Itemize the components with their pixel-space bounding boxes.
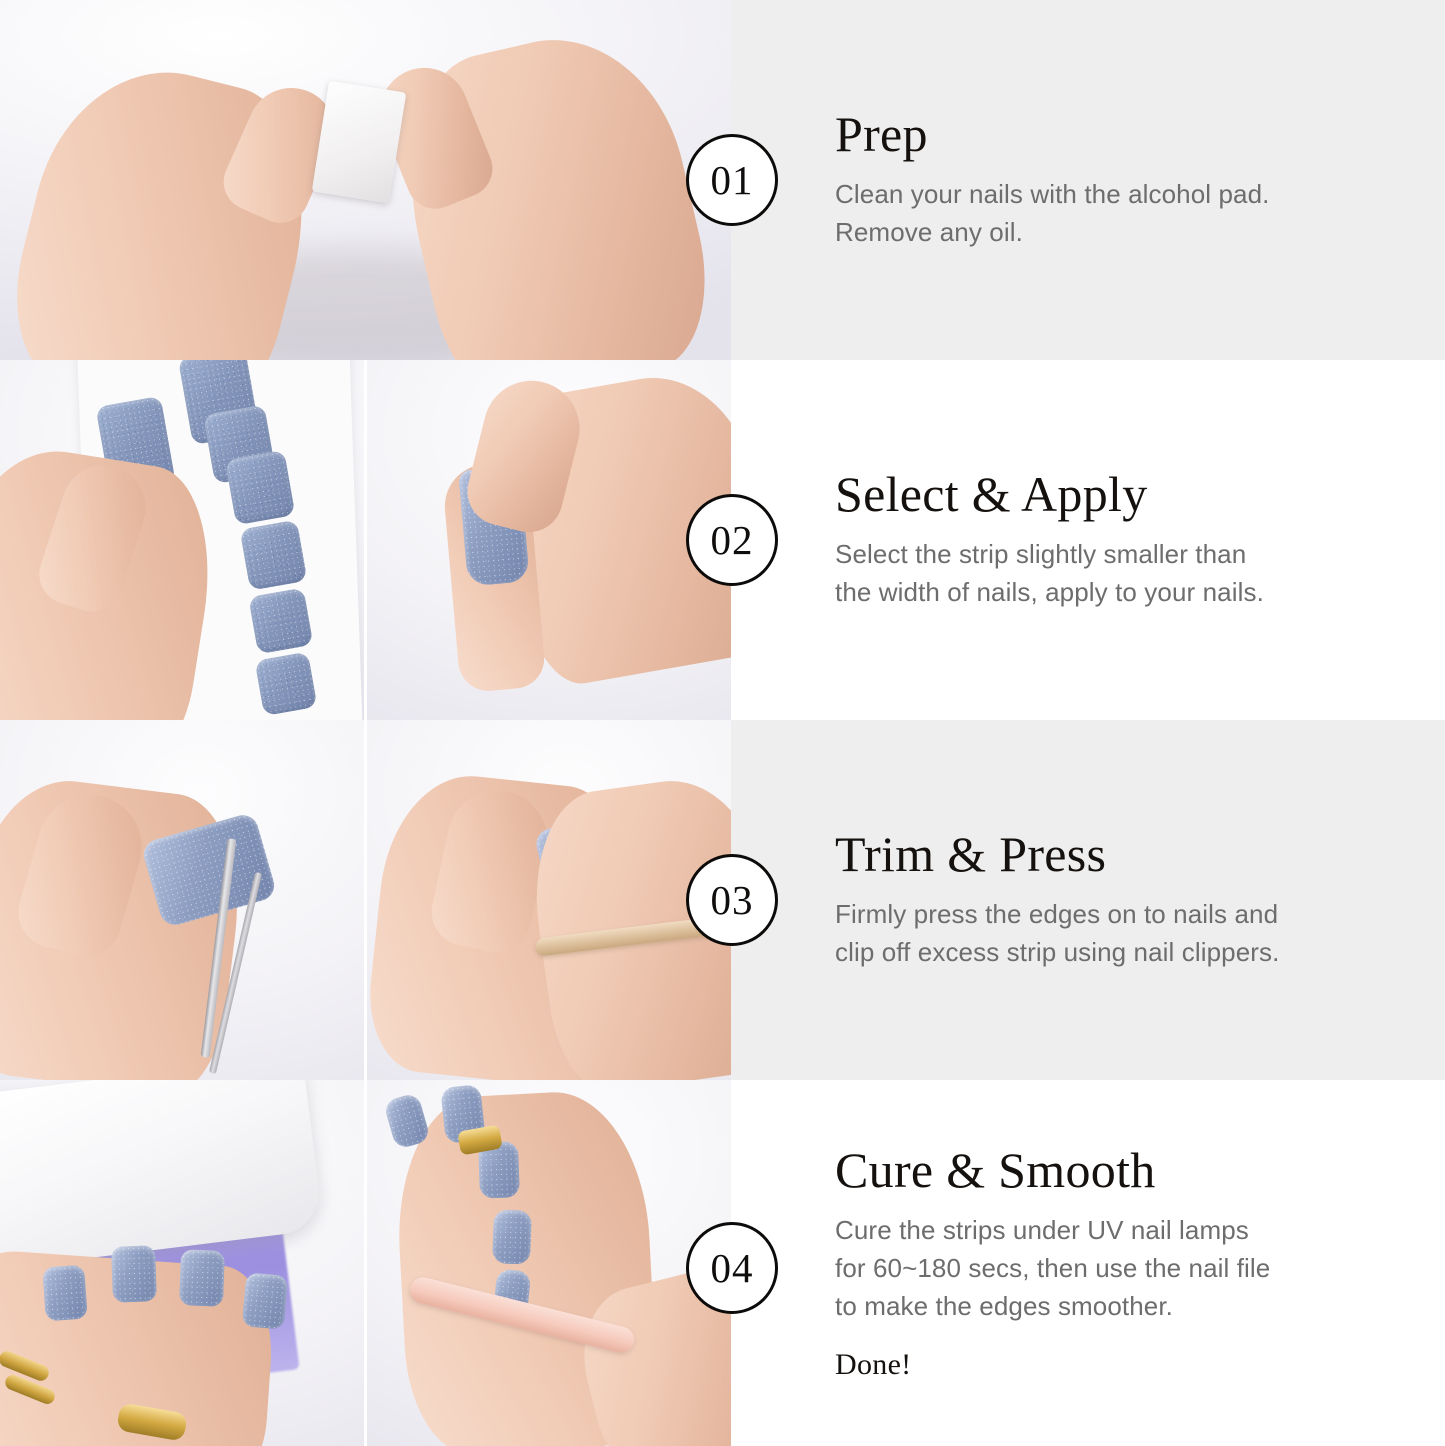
step-text-03: Trim & Press Firmly press the edges on t… (731, 720, 1445, 1080)
step-row-04: Cure & Smooth Cure the strips under UV n… (0, 1080, 1445, 1446)
photo-panel-apply-strip (364, 360, 731, 720)
step-text-01: Prep Clean your nails with the alcohol p… (731, 0, 1445, 360)
nail-strip (255, 652, 318, 717)
step-description-line-1: Cure the strips under UV nail lamps (835, 1215, 1249, 1245)
step-description-line-1: Clean your nails with the alcohol pad. (835, 179, 1270, 209)
step-badge-02: 02 (686, 494, 778, 586)
nail-strip (240, 520, 308, 591)
step-title: Cure & Smooth (835, 1144, 1445, 1197)
step-description-line-3: to make the edges smoother. (835, 1291, 1173, 1321)
photo-panel-clip-strip (0, 720, 364, 1080)
step-description: Clean your nails with the alcohol pad. R… (835, 175, 1445, 252)
finished-nail (492, 1209, 532, 1264)
step-badge-03: 03 (686, 854, 778, 946)
closing-note: Done! (835, 1348, 1445, 1382)
photo-panel-strip-sheet (0, 360, 364, 720)
step-title: Prep (835, 108, 1445, 161)
photo-panel-uv-lamp (0, 1080, 364, 1446)
photo-panel-press-edges (364, 720, 731, 1080)
step-description-line-2: clip off excess strip using nail clipper… (835, 937, 1279, 967)
step-photos-03 (0, 720, 731, 1080)
step-row-01: Prep Clean your nails with the alcohol p… (0, 0, 1445, 360)
nail-strip (225, 450, 296, 525)
step-description-line-2: for 60~180 secs, then use the nail file (835, 1253, 1270, 1283)
step-title: Trim & Press (835, 828, 1445, 881)
step-description-line-1: Firmly press the edges on to nails and (835, 899, 1278, 929)
cured-nail (42, 1265, 88, 1322)
step-photos-04 (0, 1080, 731, 1446)
step-description: Cure the strips under UV nail lamps for … (835, 1211, 1445, 1326)
step-photos-02 (0, 360, 731, 720)
instruction-sheet: Prep Clean your nails with the alcohol p… (0, 0, 1445, 1446)
step-description: Firmly press the edges on to nails and c… (835, 895, 1445, 972)
step-description: Select the strip slightly smaller than t… (835, 535, 1445, 612)
step-row-03: Trim & Press Firmly press the edges on t… (0, 720, 1445, 1080)
cured-nail (242, 1272, 289, 1329)
step-description-line-1: Select the strip slightly smaller than (835, 539, 1246, 569)
cured-nail (179, 1249, 225, 1307)
step-row-02: Select & Apply Select the strip slightly… (0, 360, 1445, 720)
step-badge-01: 01 (686, 134, 778, 226)
cured-nail (111, 1245, 157, 1303)
photo-panel-prep (0, 0, 731, 360)
step-title: Select & Apply (835, 468, 1445, 521)
photo-panel-nail-file (364, 1080, 731, 1446)
step-photos-01 (0, 0, 731, 360)
step-text-02: Select & Apply Select the strip slightly… (731, 360, 1445, 720)
step-description-line-2: Remove any oil. (835, 217, 1023, 247)
nail-strip (248, 588, 313, 655)
step-badge-04: 04 (686, 1222, 778, 1314)
step-description-line-2: the width of nails, apply to your nails. (835, 577, 1264, 607)
step-text-04: Cure & Smooth Cure the strips under UV n… (731, 1080, 1445, 1446)
